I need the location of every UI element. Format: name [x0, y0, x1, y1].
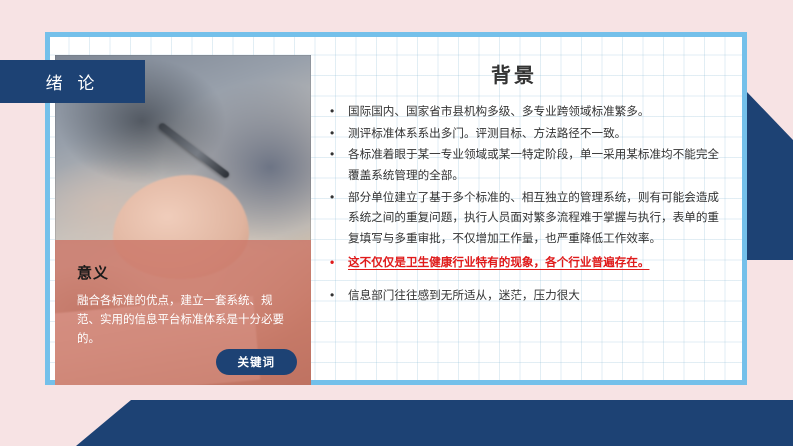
section-banner: 绪 论: [0, 60, 145, 103]
photo-card: 意义 融合各标准的优点，建立一套系统、规范、实用的信息平台标准体系是十分必要的。…: [55, 55, 311, 385]
meaning-overlay: 意义 融合各标准的优点，建立一套系统、规范、实用的信息平台标准体系是十分必要的。…: [55, 240, 311, 385]
content-area: 背景 国际国内、国家省市县机构多级、多专业跨领域标准繁多。测评标准体系系出多门。…: [320, 47, 734, 374]
bullet-item: 这不仅仅是卫生健康行业特有的现象，各个行业普遍存在。: [324, 253, 728, 274]
meaning-title: 意义: [77, 262, 109, 283]
bullet-item: 部分单位建立了基于多个标准的、相互独立的管理系统，则有可能会造成系统之间的重复问…: [324, 188, 728, 250]
page-title: 背景: [320, 59, 734, 88]
bullet-list: 国际国内、国家省市县机构多级、多专业跨领域标准繁多。测评标准体系系出多门。评测目…: [320, 102, 734, 307]
bullet-item: 信息部门往往感到无所适从，迷茫，压力很大: [324, 286, 728, 307]
bullet-item: 测评标准体系系出多门。评测目标、方法路径不一致。: [324, 124, 728, 145]
meaning-body: 融合各标准的优点，建立一套系统、规范、实用的信息平台标准体系是十分必要的。: [77, 292, 291, 349]
decorative-navy-bar-bottom: [0, 400, 793, 446]
slide-panel: 意义 融合各标准的优点，建立一套系统、规范、实用的信息平台标准体系是十分必要的。…: [45, 32, 747, 385]
bullet-item: 各标准着眼于某一专业领域或某一特定阶段，单一采用某标准均不能完全覆盖系统管理的全…: [324, 145, 728, 186]
section-banner-label: 绪 论: [46, 69, 100, 94]
pen-shape: [158, 122, 231, 179]
bullet-item: 国际国内、国家省市县机构多级、多专业跨领域标准繁多。: [324, 102, 728, 123]
keyword-button[interactable]: 关键词: [216, 349, 298, 375]
